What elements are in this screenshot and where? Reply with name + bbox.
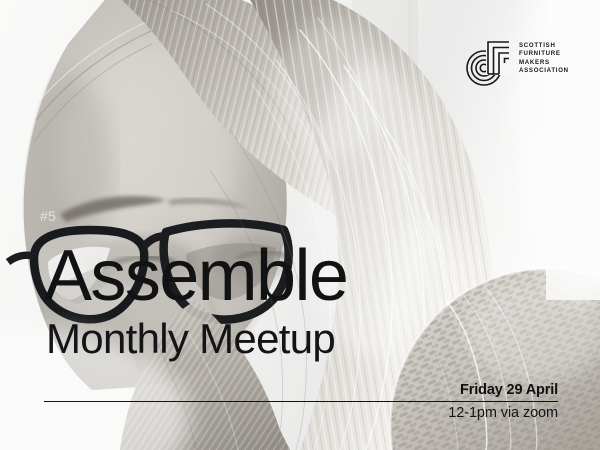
sfma-logo: SCOTTISH FURNITURE MAKERS ASSOCIATION <box>466 38 569 88</box>
poster-title: Assemble <box>44 243 347 311</box>
logo-line-1: SCOTTISH <box>519 43 569 49</box>
sfma-monogram-icon <box>466 38 510 88</box>
issue-number-mark: #5 <box>40 209 56 223</box>
footer-divider <box>44 401 558 402</box>
poster-subtitle: Monthly Meetup <box>46 318 335 360</box>
logo-line-4: ASSOCIATION <box>519 68 569 74</box>
sfma-logo-wordmark: SCOTTISH FURNITURE MAKERS ASSOCIATION <box>519 38 569 75</box>
event-time: 12-1pm via zoom <box>448 406 558 421</box>
logo-line-3: MAKERS <box>519 60 569 66</box>
logo-line-2: FURNITURE <box>519 51 569 57</box>
event-date: Friday 29 April <box>460 383 558 398</box>
event-poster: #5 SCOTTISH FURN <box>0 0 600 450</box>
